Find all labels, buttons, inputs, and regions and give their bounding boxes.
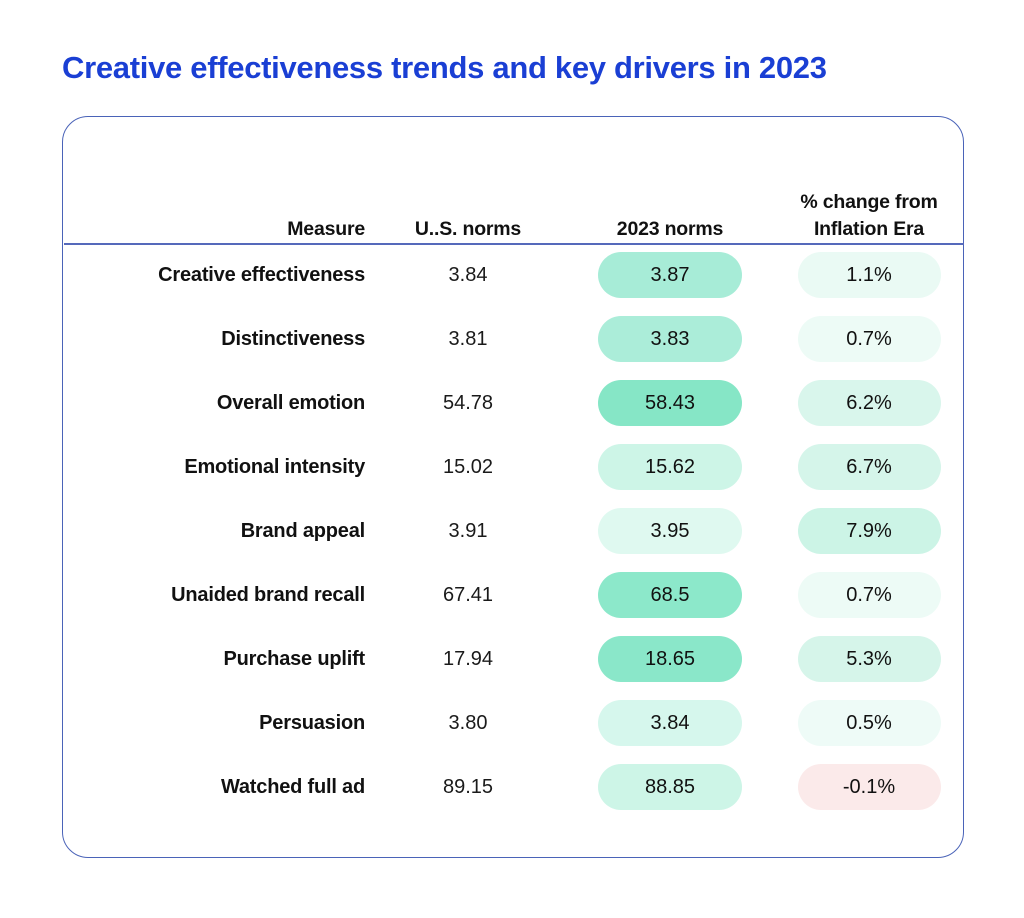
table-row: Purchase uplift17.9418.655.3% [63,627,965,691]
metrics-card: Measure U..S. norms 2023 norms % change … [62,116,964,858]
column-header-us-norms: U..S. norms [369,117,573,243]
column-header-pct-change: % change from Inflation Era [773,117,965,243]
us-norms-value: 54.78 [369,371,573,435]
pct-change-cell: 0.7% [773,563,965,627]
pct-change-cell: 6.2% [773,371,965,435]
table-row: Persuasion3.803.840.5% [63,691,965,755]
us-norms-value: 3.84 [369,243,573,307]
table-header-row: Measure U..S. norms 2023 norms % change … [63,117,965,243]
measure-label: Persuasion [63,691,369,755]
column-header-measure: Measure [63,117,369,243]
norms-2023-cell: 3.95 [573,499,773,563]
pct-change-cell: 0.5% [773,691,965,755]
pct-change-cell: 0.7% [773,307,965,371]
norms-2023-cell: 88.85 [573,755,773,819]
pct-change-pill: 0.7% [798,316,941,362]
us-norms-value: 3.80 [369,691,573,755]
norms-2023-pill: 3.84 [598,700,742,746]
measure-label: Distinctiveness [63,307,369,371]
pct-change-cell: 5.3% [773,627,965,691]
column-header-pct-change-line1: % change from [800,191,937,213]
measure-label: Brand appeal [63,499,369,563]
table-row: Unaided brand recall67.4168.50.7% [63,563,965,627]
table-row: Watched full ad89.1588.85-0.1% [63,755,965,819]
pct-change-pill: 6.2% [798,380,941,426]
measure-label: Unaided brand recall [63,563,369,627]
us-norms-value: 3.81 [369,307,573,371]
norms-2023-cell: 3.83 [573,307,773,371]
norms-2023-cell: 3.87 [573,243,773,307]
pct-change-pill: -0.1% [798,764,941,810]
norms-2023-pill: 88.85 [598,764,742,810]
table-row: Brand appeal3.913.957.9% [63,499,965,563]
pct-change-cell: -0.1% [773,755,965,819]
pct-change-pill: 6.7% [798,444,941,490]
pct-change-cell: 1.1% [773,243,965,307]
table-row: Emotional intensity15.0215.626.7% [63,435,965,499]
pct-change-pill: 1.1% [798,252,941,298]
pct-change-pill: 7.9% [798,508,941,554]
column-header-2023-norms: 2023 norms [573,117,773,243]
norms-2023-pill: 68.5 [598,572,742,618]
norms-2023-pill: 3.87 [598,252,742,298]
measure-label: Creative effectiveness [63,243,369,307]
us-norms-value: 15.02 [369,435,573,499]
pct-change-pill: 5.3% [798,636,941,682]
column-header-pct-change-line2: Inflation Era [814,218,924,240]
pct-change-cell: 7.9% [773,499,965,563]
page-title: Creative effectiveness trends and key dr… [62,47,962,89]
table-row: Overall emotion54.7858.436.2% [63,371,965,435]
norms-2023-cell: 68.5 [573,563,773,627]
norms-2023-cell: 3.84 [573,691,773,755]
norms-2023-pill: 3.95 [598,508,742,554]
norms-2023-pill: 58.43 [598,380,742,426]
norms-2023-pill: 18.65 [598,636,742,682]
norms-2023-cell: 15.62 [573,435,773,499]
table-body: Creative effectiveness3.843.871.1%Distin… [63,243,965,819]
measure-label: Overall emotion [63,371,369,435]
table-header: Measure U..S. norms 2023 norms % change … [63,117,965,243]
us-norms-value: 89.15 [369,755,573,819]
us-norms-value: 3.91 [369,499,573,563]
pct-change-cell: 6.7% [773,435,965,499]
norms-2023-cell: 18.65 [573,627,773,691]
measure-label: Purchase uplift [63,627,369,691]
us-norms-value: 67.41 [369,563,573,627]
metrics-table: Measure U..S. norms 2023 norms % change … [63,117,965,819]
table-row: Creative effectiveness3.843.871.1% [63,243,965,307]
norms-2023-pill: 15.62 [598,444,742,490]
norms-2023-cell: 58.43 [573,371,773,435]
us-norms-value: 17.94 [369,627,573,691]
norms-2023-pill: 3.83 [598,316,742,362]
pct-change-pill: 0.5% [798,700,941,746]
measure-label: Emotional intensity [63,435,369,499]
pct-change-pill: 0.7% [798,572,941,618]
table-row: Distinctiveness3.813.830.7% [63,307,965,371]
measure-label: Watched full ad [63,755,369,819]
